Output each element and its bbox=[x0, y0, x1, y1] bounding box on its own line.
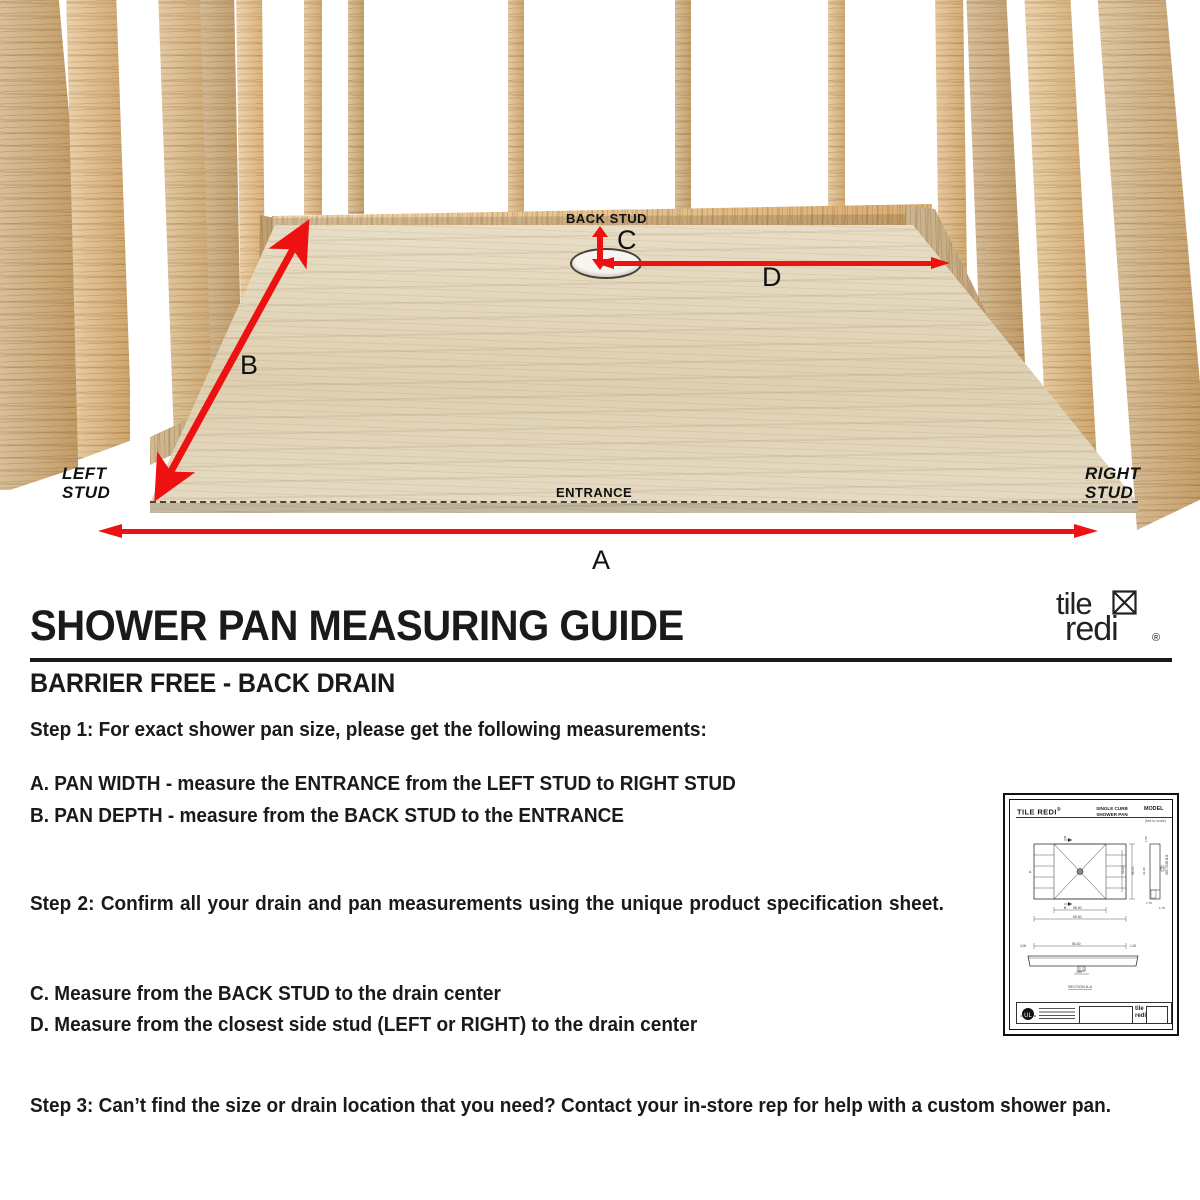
step-3-text: Step 3: Can’t find the size or drain loc… bbox=[30, 1092, 1115, 1120]
spec-sheet-thumbnail[interactable]: TILE REDI® SINGLE CURB SHOWER PAN MODEL … bbox=[1003, 793, 1179, 1036]
svg-text:4.00: 4.00 bbox=[1020, 944, 1026, 948]
svg-text:60.00: 60.00 bbox=[1073, 915, 1082, 919]
spec-cert-text-block bbox=[1039, 1008, 1075, 1019]
dimension-label-a: A bbox=[592, 545, 611, 572]
left-stud-label-line2: STUD bbox=[62, 483, 110, 502]
spec-header-rule bbox=[1016, 817, 1172, 818]
svg-text:1.75: 1.75 bbox=[1146, 901, 1152, 905]
item-b-text: - measure from the BACK STUD to the ENTR… bbox=[163, 805, 624, 827]
dimension-label-b: B bbox=[240, 350, 259, 381]
item-b-label: B. PAN DEPTH bbox=[30, 805, 163, 827]
item-d-text: D. Measure from the closest side stud (L… bbox=[30, 1011, 942, 1039]
svg-text:SECTION A-A: SECTION A-A bbox=[1068, 985, 1093, 989]
right-stud-label-line2: STUD bbox=[1085, 483, 1140, 502]
right-stud-label-line1: RIGHT bbox=[1085, 464, 1140, 483]
svg-text:A: A bbox=[1029, 870, 1032, 874]
back-wall-stud-5 bbox=[825, 0, 849, 212]
left-wall-stud-1 bbox=[0, 0, 78, 490]
title-divider bbox=[30, 658, 1172, 662]
dimension-arrow-a bbox=[98, 524, 1098, 538]
spec-title-field bbox=[1079, 1006, 1133, 1024]
spec-brand-registered: ® bbox=[1057, 807, 1061, 813]
measurement-items-cd: C. Measure from the BACK STUD to the dra… bbox=[30, 980, 942, 1042]
shower-framing-illustration: A B BACK STUD C bbox=[0, 0, 1200, 572]
item-c-text: C. Measure from the BACK STUD to the dra… bbox=[30, 980, 942, 1008]
spec-scale-note: (Not to scale) bbox=[1145, 819, 1166, 823]
page-subtitle: BARRIER FREE - BACK DRAIN bbox=[30, 668, 395, 699]
entrance-label: ENTRANCE bbox=[556, 485, 632, 500]
left-stud-label: LEFT STUD bbox=[62, 464, 110, 502]
ul-certification-icon: UL c us bbox=[1020, 1007, 1036, 1021]
dimension-arrow-b bbox=[130, 215, 330, 515]
svg-text:56.00: 56.00 bbox=[1072, 942, 1081, 946]
brand-logo-line2: redi bbox=[1065, 610, 1118, 649]
spec-model-label: MODEL bbox=[1144, 806, 1163, 812]
svg-text:4.50: 4.50 bbox=[1076, 970, 1082, 974]
item-a-label: A. PAN WIDTH bbox=[30, 773, 161, 795]
svg-text:us: us bbox=[1034, 1013, 1036, 1018]
right-stud-label: RIGHT STUD bbox=[1085, 464, 1140, 502]
svg-text:B: B bbox=[1064, 906, 1067, 910]
svg-text:1.75: 1.75 bbox=[1159, 906, 1165, 910]
svg-text:56.00: 56.00 bbox=[1073, 906, 1082, 910]
spec-brand-text: TILE REDI bbox=[1017, 808, 1057, 817]
spec-section-aa-view: 56.00 4.00 1.00 4.50 SECTION A-A bbox=[1016, 938, 1174, 998]
spec-logo-line1: tile bbox=[1135, 1006, 1144, 1012]
step-1-text: Step 1: For exact shower pan size, pleas… bbox=[30, 716, 942, 744]
brand-registered-mark: ® bbox=[1152, 632, 1160, 644]
spec-rev-field bbox=[1146, 1006, 1168, 1024]
spec-logo-line2: redi bbox=[1135, 1013, 1146, 1019]
svg-text:1.50: 1.50 bbox=[1144, 836, 1148, 842]
right-wall-stud-4 bbox=[1095, 0, 1200, 530]
page-title: SHOWER PAN MEASURING GUIDE bbox=[30, 602, 684, 651]
left-stud-label-line1: LEFT bbox=[62, 464, 110, 483]
svg-text:B: B bbox=[1064, 836, 1067, 840]
spec-brand: TILE REDI® bbox=[1017, 807, 1061, 817]
item-a-line: A. PAN WIDTH - measure the ENTRANCE from… bbox=[30, 770, 942, 798]
svg-text:1.00: 1.00 bbox=[1130, 944, 1136, 948]
dimension-label-d: D bbox=[762, 262, 782, 293]
brand-logo: tile redi ® bbox=[1056, 586, 1176, 648]
item-a-text: - measure the ENTRANCE from the LEFT STU… bbox=[161, 773, 736, 795]
step-2-block: Step 2: Confirm all your drain and pan m… bbox=[30, 890, 944, 946]
svg-text:SECTION B-B: SECTION B-B bbox=[1165, 855, 1169, 875]
back-wall-stud-1 bbox=[300, 0, 326, 220]
back-stud-label: BACK STUD bbox=[566, 211, 647, 226]
spec-title-block: UL c us tile redi bbox=[1016, 1002, 1172, 1024]
step-2-text: Step 2: Confirm all your drain and pan m… bbox=[30, 890, 944, 946]
svg-text:UL: UL bbox=[1024, 1013, 1032, 1019]
measurement-items-ab: A. PAN WIDTH - measure the ENTRANCE from… bbox=[30, 770, 942, 834]
spec-plan-view: B B A 36.00 32.00 56.00 60 bbox=[1016, 830, 1174, 940]
page-root: A B BACK STUD C bbox=[0, 0, 1200, 1200]
dimension-label-c: C bbox=[617, 225, 637, 256]
svg-text:32.00: 32.00 bbox=[1121, 866, 1125, 874]
svg-text:31.00: 31.00 bbox=[1142, 867, 1146, 875]
back-wall-stud-4 bbox=[672, 0, 694, 214]
item-b-line: B. PAN DEPTH - measure from the BACK STU… bbox=[30, 802, 942, 830]
spec-sheet-border: TILE REDI® SINGLE CURB SHOWER PAN MODEL … bbox=[1009, 799, 1173, 1030]
back-wall-stud-2 bbox=[345, 0, 367, 218]
svg-text:c: c bbox=[1021, 1013, 1023, 1018]
back-wall-stud-3 bbox=[505, 0, 527, 216]
svg-text:36.00: 36.00 bbox=[1131, 866, 1135, 875]
